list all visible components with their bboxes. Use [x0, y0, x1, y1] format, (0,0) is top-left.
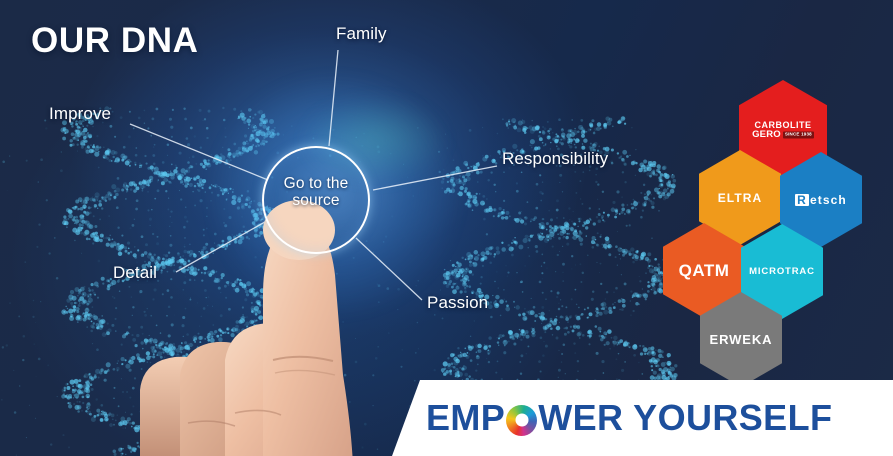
rainbow-ring-icon: [506, 405, 537, 436]
carbolite-badge: SINCE 1938: [783, 131, 814, 138]
center-line-1: Go to the: [284, 175, 349, 192]
retsch-r-mark: R: [795, 194, 809, 206]
brand-hexagon-cluster: CARBOLITE GERO SINCE 1938 ELTRA Retsch Q…: [655, 80, 893, 370]
center-line-2: source: [292, 192, 339, 209]
center-circle[interactable]: Go to the source: [262, 146, 370, 254]
gero-text: GERO: [752, 130, 781, 140]
eltra-wordmark: ELTRA: [718, 192, 763, 204]
gero-wordmark: GERO SINCE 1938: [752, 130, 814, 140]
spoke-label-improve: Improve: [49, 104, 111, 124]
center-circle-label: Go to the source: [284, 175, 349, 226]
spoke-label-family: Family: [336, 24, 387, 44]
microtrac-wordmark: MICROTRAC: [749, 267, 815, 277]
tagline-part-2: WER YOURSELF: [538, 397, 832, 439]
retsch-text: etsch: [810, 193, 847, 207]
empower-yourself-tagline: EMPWER YOURSELF: [426, 397, 832, 439]
page-title: OUR DNA: [31, 21, 199, 61]
spoke-label-responsibility: Responsibility: [502, 149, 608, 169]
spoke-label-detail: Detail: [113, 263, 157, 283]
qatm-wordmark: QATM: [679, 262, 730, 279]
hero-banner: OUR DNA Go to the source Family Improve …: [0, 0, 893, 456]
retsch-wordmark: Retsch: [795, 194, 847, 206]
bottom-banner: EMPWER YOURSELF: [392, 380, 893, 456]
spoke-label-passion: Passion: [427, 293, 488, 313]
tagline-part-1: EMP: [426, 397, 505, 439]
erweka-wordmark: ERWEKA: [710, 333, 773, 346]
carbolite-gero-logo: CARBOLITE GERO SINCE 1938: [752, 121, 814, 140]
